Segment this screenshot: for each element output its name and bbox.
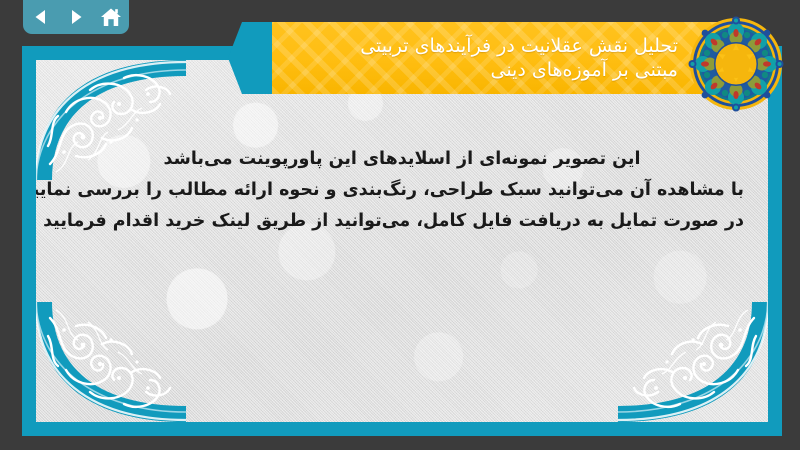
triangle-right-icon xyxy=(66,7,86,27)
body-line-3: در صورت تمایل به دریافت فایل کامل، می‌تو… xyxy=(60,206,744,237)
slide-content-panel: این تصویر نمونه‌ای از اسلایدهای این پاور… xyxy=(36,60,768,422)
slide-frame: این تصویر نمونه‌ای از اسلایدهای این پاور… xyxy=(22,46,782,436)
islimi-arabesque-corner-icon xyxy=(36,302,186,422)
slide-body-text: این تصویر نمونه‌ای از اسلایدهای این پاور… xyxy=(60,144,744,237)
previous-slide-button[interactable] xyxy=(28,5,54,29)
home-button[interactable] xyxy=(98,5,124,29)
home-icon xyxy=(100,7,122,28)
navigation-bar xyxy=(23,0,129,34)
triangle-left-icon xyxy=(31,7,51,27)
next-slide-button[interactable] xyxy=(63,5,89,29)
title-line-1: تحلیل نقش عقلانیت در فرآیندهای تربیتی xyxy=(360,34,678,58)
slide-viewer: این تصویر نمونه‌ای از اسلایدهای این پاور… xyxy=(0,0,800,450)
slide-title-banner: تحلیل نقش عقلانیت در فرآیندهای تربیتی مب… xyxy=(228,22,740,94)
title-line-2: مبتنی بر آموزه‌های دینی xyxy=(490,58,678,82)
islimi-arabesque-corner-icon xyxy=(618,302,768,422)
persian-medallion-ornament-icon xyxy=(688,16,784,112)
body-line-1: این تصویر نمونه‌ای از اسلایدهای این پاور… xyxy=(60,144,744,175)
slide-title-body: تحلیل نقش عقلانیت در فرآیندهای تربیتی مب… xyxy=(272,22,740,94)
body-line-2: با مشاهده آن می‌توانید سبک طراحی، رنگ‌بن… xyxy=(60,175,744,206)
